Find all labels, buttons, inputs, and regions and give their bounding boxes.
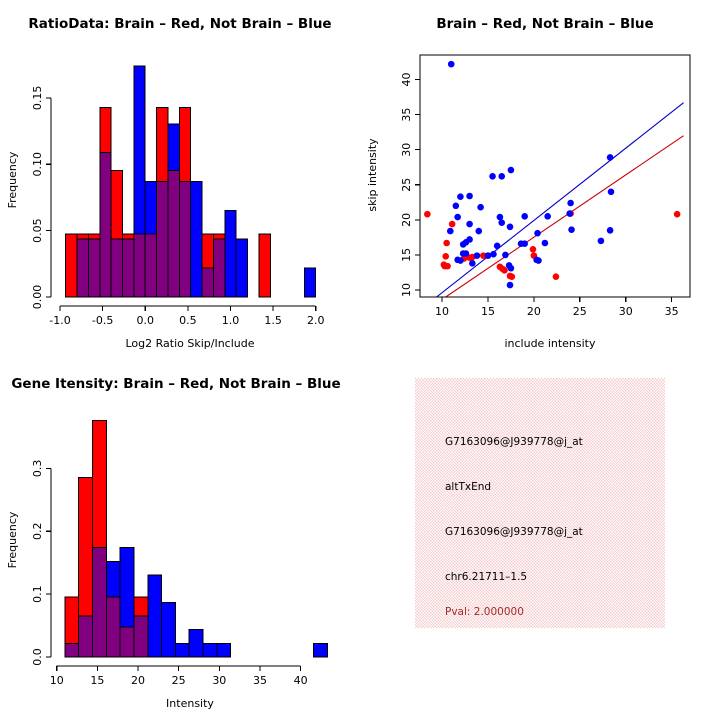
y-tick-label: 0.00 [31, 285, 44, 310]
x-tick-label: 0.0 [136, 314, 154, 327]
scatter-points [424, 61, 680, 289]
scatter-point [507, 282, 514, 289]
scatter-point [497, 214, 504, 221]
scatter-point [469, 260, 476, 267]
x-tick-label: 10 [435, 305, 449, 318]
histogram-bar [236, 239, 247, 297]
histogram-bar [79, 477, 93, 616]
histogram-bar [66, 234, 77, 297]
histogram-bar [213, 234, 224, 239]
scatter-point [567, 200, 574, 207]
scatter-point [501, 267, 508, 274]
histogram-bar [100, 107, 111, 152]
x-tick-label: 25 [573, 305, 587, 318]
y-tick-label: 10 [400, 283, 413, 297]
histogram-bar [65, 597, 79, 643]
histogram-bar [314, 643, 328, 657]
panel-intensity-scatter: Brain – Red, Not Brain – Blue include in… [360, 0, 720, 360]
scatter-point [448, 61, 455, 68]
x-tick-label: 10 [50, 674, 64, 687]
histogram-bar [123, 234, 134, 239]
scatter-point [443, 240, 450, 247]
ratio-histogram-ylabel: Frequency [6, 151, 19, 208]
x-tick-label: 0.5 [179, 314, 197, 327]
panel-ratio-histogram: RatioData: Brain – Red, Not Brain – Blue… [0, 0, 360, 360]
y-tick-label: 30 [400, 143, 413, 157]
figure-canvas: RatioData: Brain – Red, Not Brain – Blue… [0, 0, 720, 720]
x-tick-label: 35 [665, 305, 679, 318]
histogram-bar [157, 107, 168, 181]
scatter-point [457, 193, 464, 200]
histogram-bar-overlap [120, 627, 134, 657]
ratio-histogram-bars [66, 66, 316, 297]
histogram-bar-overlap [179, 181, 190, 297]
histogram-bar-overlap [65, 643, 79, 657]
info-line-pvalue: Pval: 2.000000 [445, 606, 524, 618]
scatter-fit-line [437, 103, 684, 297]
y-tick-label: 0.3 [31, 460, 44, 478]
scatter-point [521, 213, 528, 220]
scatter-point [598, 238, 605, 245]
scatter-point [494, 242, 501, 249]
gene-histogram-ylabel: Frequency [6, 511, 19, 568]
scatter-axes: 10152025303510152025303540 [400, 55, 690, 318]
scatter-point [477, 204, 484, 211]
ratio-histogram-xlabel: Log2 Ratio Skip/Include [125, 337, 254, 350]
histogram-bar-overlap [202, 268, 213, 297]
scatter-point [566, 210, 573, 217]
info-line-probe-id-2: G7163096@J939778@j_at [445, 526, 583, 538]
scatter-point [444, 263, 451, 270]
histogram-bar-overlap [100, 153, 111, 297]
scatter-fit-line [446, 136, 684, 297]
histogram-bar [168, 124, 179, 171]
histogram-bar [179, 107, 190, 181]
histogram-bar [259, 234, 270, 297]
y-tick-label: 0.05 [31, 218, 44, 243]
scatter-ylabel: skip intensity [366, 138, 379, 212]
histogram-bar [134, 597, 148, 616]
histogram-bar-overlap [79, 616, 93, 657]
scatter-point [508, 265, 515, 272]
scatter-point [544, 213, 551, 220]
y-tick-label: 40 [400, 73, 413, 87]
scatter-point [509, 273, 516, 280]
histogram-bar-overlap [134, 616, 148, 657]
histogram-bar-overlap [168, 171, 179, 297]
histogram-bar [203, 643, 217, 657]
scatter-point [498, 219, 505, 226]
x-tick-label: 20 [527, 305, 541, 318]
scatter-point [542, 240, 549, 247]
histogram-bar [106, 561, 120, 597]
probe-info-box: G7163096@J939778@j_at altTxEnd G7163096@… [415, 378, 665, 628]
gene-histogram-bars [65, 420, 328, 657]
histogram-bar-overlap [111, 239, 122, 297]
intensity-scatter-svg: Brain – Red, Not Brain – Blue include in… [360, 0, 720, 360]
histogram-bar-overlap [93, 548, 107, 657]
histogram-bar [111, 171, 122, 240]
histogram-bar [304, 268, 315, 297]
x-tick-label: 20 [131, 674, 145, 687]
x-tick-label: 1.5 [264, 314, 282, 327]
ratio-histogram-svg: RatioData: Brain – Red, Not Brain – Blue… [0, 0, 360, 360]
histogram-bar [175, 643, 189, 657]
scatter-point [453, 203, 460, 210]
scatter-point [521, 240, 528, 247]
y-tick-label: 0.10 [31, 152, 44, 177]
scatter-point [607, 227, 614, 234]
scatter-point [489, 173, 496, 180]
x-tick-label: 40 [294, 674, 308, 687]
y-tick-label: 0.2 [31, 522, 44, 540]
x-tick-label: 30 [212, 674, 226, 687]
scatter-point [534, 230, 541, 237]
gene-histogram-svg: Gene Itensity: Brain – Red, Not Brain – … [0, 360, 360, 720]
scatter-point [454, 214, 461, 221]
scatter-point [449, 221, 456, 228]
x-tick-label: 25 [172, 674, 186, 687]
scatter-point [674, 211, 681, 218]
y-tick-label: 0.15 [31, 86, 44, 111]
scatter-point [463, 250, 470, 257]
x-tick-label: 15 [481, 305, 495, 318]
scatter-point [508, 167, 515, 174]
scatter-point [466, 221, 473, 228]
scatter-point [498, 173, 505, 180]
histogram-bar [225, 210, 236, 297]
scatter-point [502, 252, 509, 259]
x-tick-label: 1.0 [222, 314, 240, 327]
histogram-bar [202, 234, 213, 268]
histogram-bar-overlap [123, 239, 134, 297]
x-tick-label: -1.0 [49, 314, 70, 327]
info-line-locus: chr6.21711–1.5 [445, 571, 527, 583]
scatter-point [475, 228, 482, 235]
histogram-bar [148, 575, 162, 657]
histogram-bar [189, 630, 203, 657]
histogram-bar-overlap [157, 181, 168, 297]
histogram-bar-overlap [88, 239, 99, 297]
info-line-event-type: altTxEnd [445, 481, 491, 493]
histogram-bar [217, 643, 231, 657]
scatter-title: Brain – Red, Not Brain – Blue [436, 16, 653, 32]
scatter-point [474, 252, 481, 259]
panel-gene-intensity-histogram: Gene Itensity: Brain – Red, Not Brain – … [0, 360, 360, 720]
histogram-bar-overlap [134, 234, 145, 297]
scatter-point [485, 252, 492, 259]
histogram-bar-overlap [213, 239, 224, 297]
x-tick-label: 35 [253, 674, 267, 687]
scatter-point [607, 154, 614, 161]
histogram-bar [145, 181, 156, 233]
histogram-bar-overlap [106, 597, 120, 657]
gene-histogram-title: Gene Itensity: Brain – Red, Not Brain – … [11, 376, 340, 392]
scatter-point [442, 253, 449, 260]
histogram-bar [120, 548, 134, 627]
histogram-bar-overlap [145, 234, 156, 297]
y-tick-label: 0.0 [31, 648, 44, 666]
panel-probe-info: G7163096@J939778@j_at altTxEnd G7163096@… [360, 360, 720, 720]
scatter-point [530, 246, 537, 253]
y-tick-label: 0.1 [31, 585, 44, 603]
y-tick-label: 25 [400, 178, 413, 192]
scatter-point [447, 228, 454, 235]
scatter-point [608, 188, 615, 195]
scatter-point [490, 251, 497, 258]
histogram-bar [162, 602, 176, 657]
x-tick-label: 15 [90, 674, 104, 687]
scatter-point [466, 193, 473, 200]
histogram-bar [77, 234, 88, 239]
y-tick-label: 20 [400, 213, 413, 227]
scatter-point [457, 257, 464, 264]
histogram-bar [134, 66, 145, 234]
ratio-histogram-title: RatioData: Brain – Red, Not Brain – Blue [28, 16, 331, 32]
y-tick-label: 35 [400, 108, 413, 122]
histogram-bar [93, 420, 107, 547]
y-tick-label: 15 [400, 248, 413, 262]
x-tick-label: 2.0 [307, 314, 325, 327]
scatter-point [568, 226, 575, 233]
histogram-bar [191, 181, 202, 297]
scatter-point [463, 239, 470, 246]
gene-histogram-xlabel: Intensity [166, 697, 214, 710]
scatter-point [424, 211, 431, 218]
scatter-point [553, 273, 560, 280]
scatter-xlabel: include intensity [504, 337, 596, 350]
scatter-fit-lines [437, 103, 684, 297]
x-tick-label: -0.5 [92, 314, 113, 327]
histogram-bar-overlap [77, 239, 88, 297]
scatter-point [507, 224, 514, 231]
info-line-probe-id: G7163096@J939778@j_at [445, 436, 583, 448]
histogram-bar [88, 234, 99, 239]
x-tick-label: 30 [619, 305, 633, 318]
scatter-point [535, 257, 542, 264]
